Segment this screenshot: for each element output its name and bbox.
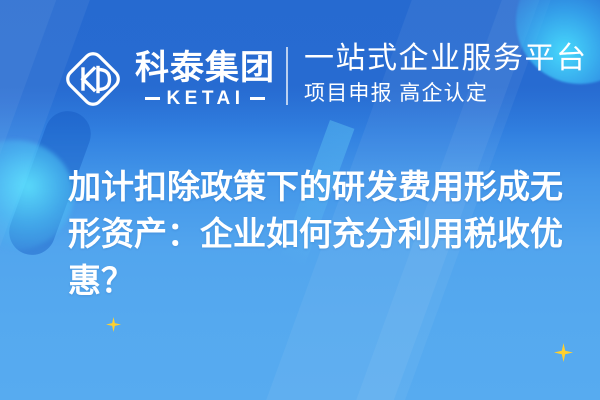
brand-wordmark: 科泰集团 KETAI: [135, 50, 275, 109]
banner-header: 科泰集团 KETAI 一站式企业服务平台 项目申报 高企认定: [0, 0, 600, 136]
page-title: 加计扣除政策下的研发费用形成无形资产：企业如何充分利用税收优惠？: [68, 163, 568, 304]
diamond-kd-logo-icon: [60, 46, 126, 112]
dash-left-icon: [145, 97, 160, 100]
brand-name-cn: 科泰集团: [135, 50, 275, 86]
brand-name-en: KETAI: [166, 89, 244, 109]
promo-banner: 科泰集团 KETAI 一站式企业服务平台 项目申报 高企认定 加计扣除政策下的研…: [0, 0, 600, 400]
tagline-primary: 一站式企业服务平台: [304, 42, 588, 76]
sparkle-star-icon: [106, 317, 121, 332]
vertical-divider-icon: [286, 47, 288, 105]
brand-name-en-row: KETAI: [135, 89, 275, 109]
sparkle-star-icon: [554, 343, 573, 362]
tagline-group: 一站式企业服务平台 项目申报 高企认定: [304, 42, 588, 105]
brand-logo[interactable]: 科泰集团 KETAI: [60, 46, 275, 112]
cyan-glow-blob-icon: [0, 140, 74, 250]
dash-right-icon: [250, 97, 265, 100]
tagline-secondary: 项目申报 高企认定: [304, 81, 588, 105]
